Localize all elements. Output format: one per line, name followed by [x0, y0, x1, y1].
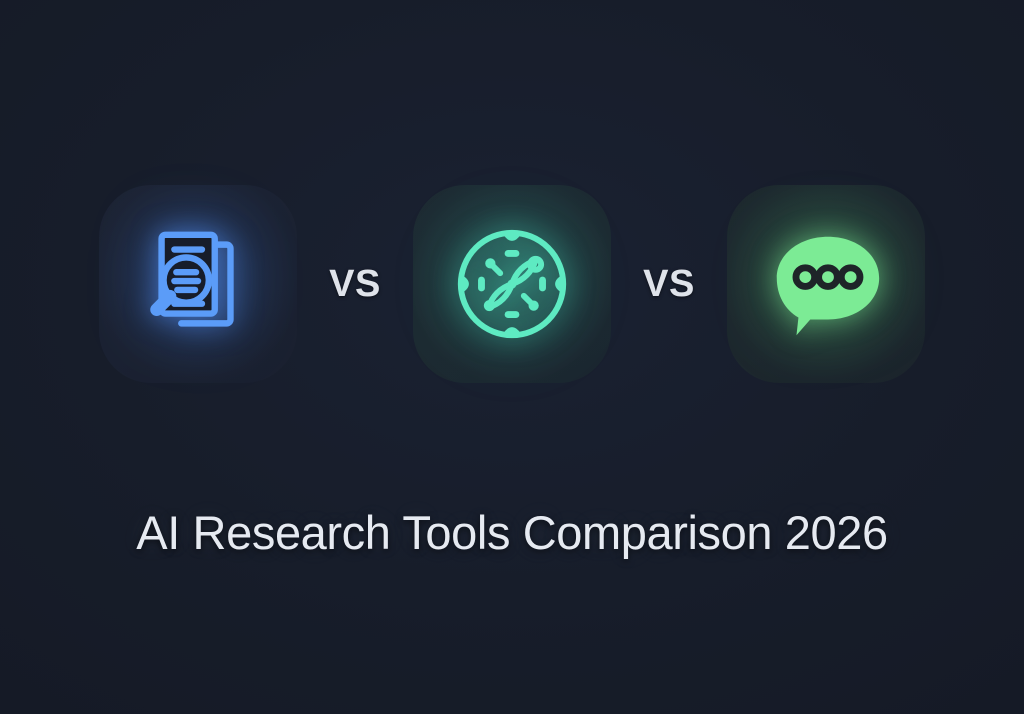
vs-separator-1: VS — [297, 263, 413, 306]
tool-tile-compass-network[interactable] — [413, 185, 611, 383]
page-title: AI Research Tools Comparison 2026 — [0, 505, 1024, 560]
document-search-icon — [135, 221, 261, 347]
compass-network-icon — [449, 221, 575, 347]
tool-tile-document-search[interactable] — [99, 185, 297, 383]
comparison-row: VS — [0, 185, 1024, 383]
vs-separator-2: VS — [611, 263, 727, 306]
comparison-poster: VS — [0, 0, 1024, 714]
chat-bubble-dots-icon — [763, 221, 889, 347]
tool-tile-chat-bubble[interactable] — [727, 185, 925, 383]
